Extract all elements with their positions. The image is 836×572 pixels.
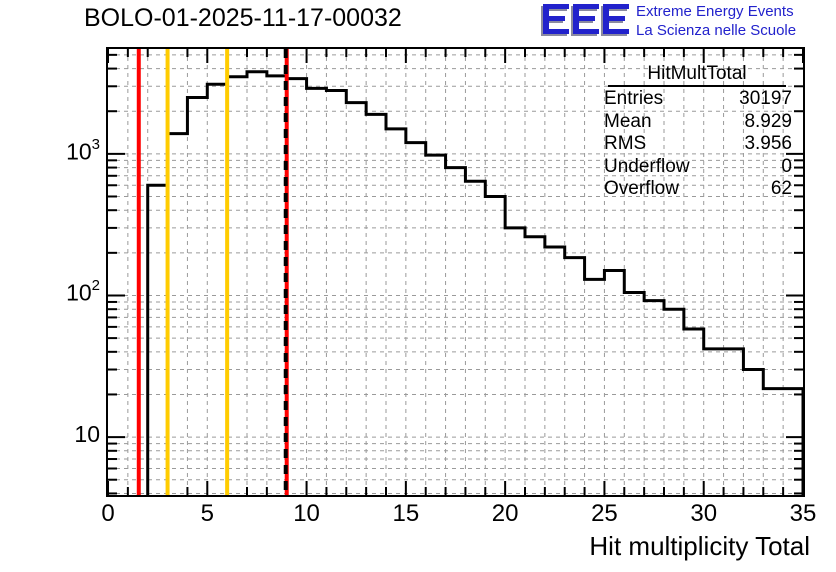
stats-row-value: 30197 <box>739 88 792 111</box>
x-tick-label: 0 <box>101 500 114 528</box>
y-tick-label: 102 <box>40 279 100 307</box>
y-tick-label: 10 <box>40 421 100 448</box>
stats-row: Entries30197 <box>600 88 794 111</box>
y-tick-base: 10 <box>74 421 100 447</box>
stats-row-key: Overflow <box>604 178 679 201</box>
stats-rows: Entries30197Mean8.929RMS3.956Underflow0O… <box>600 88 794 201</box>
stats-row: Underflow0 <box>600 156 794 179</box>
y-tick-base: 10 <box>66 139 92 165</box>
stats-row-value: 0 <box>781 156 792 179</box>
x-tick-label: 35 <box>790 500 817 528</box>
stats-row: Overflow62 <box>600 178 794 201</box>
chart-page: BOLO-01-2025-11-17-00032 <box>0 0 836 572</box>
x-tick-label: 25 <box>591 500 618 528</box>
x-axis-title: Hit multiplicity Total <box>589 531 810 562</box>
x-tick-label: 30 <box>690 500 717 528</box>
stats-row-value: 3.956 <box>744 133 792 156</box>
stats-row-value: 8.929 <box>744 111 792 134</box>
y-tick-exponent: 3 <box>92 136 100 153</box>
y-tick-exponent: 2 <box>92 277 100 294</box>
stats-title: HitMultTotal <box>608 63 786 87</box>
x-tick-label: 5 <box>201 500 214 528</box>
x-tick-label: 20 <box>492 500 519 528</box>
stats-row-key: Entries <box>604 88 663 111</box>
stats-row-key: Mean <box>604 111 652 134</box>
stats-row-key: Underflow <box>604 156 690 179</box>
y-tick-base: 10 <box>66 280 92 306</box>
x-tick-label: 10 <box>293 500 320 528</box>
x-tick-label: 15 <box>392 500 419 528</box>
y-tick-label: 103 <box>40 138 100 166</box>
stats-row-value: 62 <box>771 178 792 201</box>
stats-row: Mean8.929 <box>600 111 794 134</box>
stats-row: RMS3.956 <box>600 133 794 156</box>
stats-box: HitMultTotal Entries30197Mean8.929RMS3.9… <box>600 63 794 201</box>
stats-row-key: RMS <box>604 133 646 156</box>
